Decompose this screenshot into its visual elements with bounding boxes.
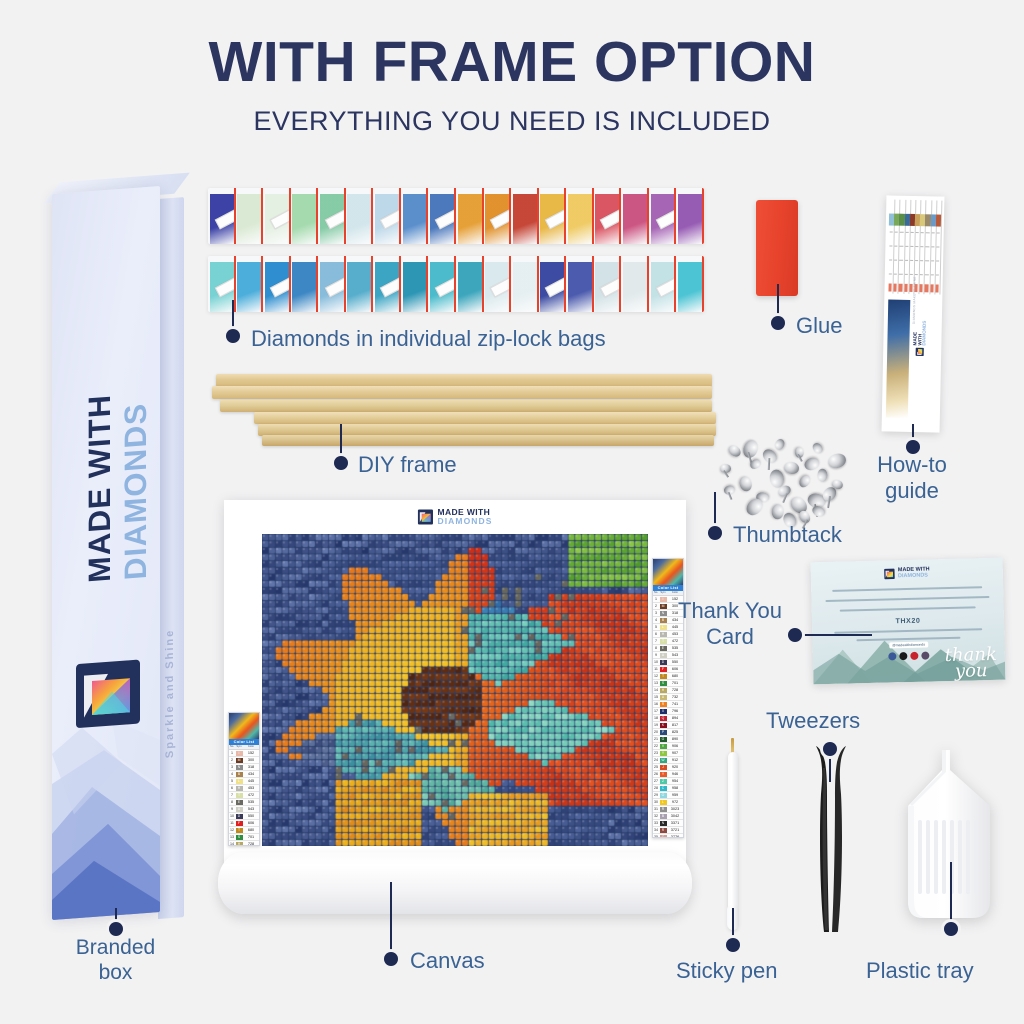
color-list-row: 4B434 — [229, 771, 259, 778]
diy-frame-leader — [340, 424, 342, 458]
color-list-row: 13S701 — [229, 834, 259, 841]
thank-you-card-label: Thank You Card — [672, 598, 788, 650]
page-subtitle: EVERYTHING YOU NEED IS INCLUDED — [0, 108, 1024, 135]
diamond-bag — [511, 188, 539, 244]
color-list-row: 20P825 — [653, 729, 683, 736]
canvas-group: MADE WITH DIAMONDS Color List No. Sym Co… — [224, 500, 688, 920]
guide-chart-line — [905, 232, 908, 233]
thumbtack-dot — [708, 526, 722, 540]
sticky-pen-label: Sticky pen — [676, 958, 778, 984]
diamond-bag — [318, 188, 346, 244]
card-text-line — [832, 586, 982, 592]
card-thank-you-script: thank you — [945, 647, 998, 679]
frame-slat — [212, 386, 712, 399]
guide-chart-line — [931, 232, 934, 233]
diamond-bag — [649, 188, 677, 244]
canvas-artwork-mosaic — [262, 534, 648, 846]
guide-chart-line — [936, 246, 939, 247]
diamond-bag — [456, 256, 484, 312]
guide-chart-line — [894, 260, 897, 261]
color-list-row: 5L445 — [229, 778, 259, 785]
thumbtack — [811, 441, 825, 455]
guide-chart-accent — [899, 284, 902, 292]
color-list-row: 1I152 — [229, 750, 259, 757]
guide-chart-line — [910, 246, 913, 247]
color-list-row: 32B3042 — [653, 813, 683, 820]
diamond-bag — [566, 256, 594, 312]
color-list-row: 8E535 — [229, 799, 259, 806]
color-list-row: 14H728 — [653, 687, 683, 694]
diamond-bag — [511, 256, 539, 312]
guide-chart-accent — [925, 284, 928, 292]
instagram-icon[interactable] — [899, 652, 907, 660]
diamond-bag — [346, 188, 374, 244]
card-social-icons — [888, 651, 929, 660]
diamond-bag — [484, 256, 512, 312]
diy-frame-group — [210, 372, 718, 448]
card-social-handle: @madewithdiamonds — [889, 642, 928, 649]
guide-chart-line — [910, 232, 913, 233]
guide-chart-line — [920, 274, 923, 275]
guide-chart-line — [925, 260, 928, 261]
guide-chart-line — [889, 273, 892, 274]
diy-frame-label: DIY frame — [358, 452, 457, 478]
diamond-bag — [401, 256, 429, 312]
canvas-dot — [384, 952, 398, 966]
guide-chart-line — [900, 246, 903, 247]
diamond-bag — [236, 188, 264, 244]
color-list-row: 9A543 — [653, 652, 683, 659]
box-tagline: Sparkle and Shine — [164, 628, 176, 758]
guide-chart-line — [921, 232, 924, 233]
sticky-pen-leader — [732, 908, 734, 942]
guide-chart-line — [910, 260, 913, 261]
diamond-bag — [594, 256, 622, 312]
color-list-row: 25J920 — [653, 764, 683, 771]
how-to-guide-label-line1: How-to — [845, 452, 979, 478]
color-list-row: 35C3776 — [653, 834, 683, 838]
canvas-artwork — [262, 534, 648, 846]
tiktok-icon[interactable] — [921, 651, 929, 659]
card-logo-line2: DIAMONDS — [898, 573, 930, 579]
guide-chart-line — [931, 246, 934, 247]
diamond-bag — [208, 188, 236, 244]
color-list-row: 24W912 — [653, 757, 683, 764]
guide-chart-line — [925, 274, 928, 275]
color-list-row: 3N318 — [229, 764, 259, 771]
guide-chart-accent — [888, 283, 891, 291]
glue-dot — [771, 316, 785, 330]
canvas-brand-logo: MADE WITH DIAMONDS — [417, 508, 492, 525]
diamonds-bags-label: Diamonds in individual zip-lock bags — [251, 326, 606, 352]
sticky-pen-dot — [726, 938, 740, 952]
canvas-logo-line2: DIAMONDS — [437, 517, 492, 526]
guide-chart-line — [915, 274, 918, 275]
diamond-bag — [263, 256, 291, 312]
guide-chart-line — [900, 260, 903, 261]
guide-chart-swatch — [936, 214, 941, 226]
card-brand-logo: MADE WITH DIAMONDS — [884, 567, 930, 579]
guide-chart-line — [915, 246, 918, 247]
diamonds-bags-dot — [226, 329, 240, 343]
diamond-bag-row-bottom — [208, 256, 704, 312]
facebook-icon[interactable] — [888, 652, 896, 660]
diamond-bag — [676, 188, 704, 244]
guide-brand-logo: MADE WITH DIAMONDS — [913, 320, 928, 356]
infographic-canvas: WITH FRAME OPTION EVERYTHING YOU NEED IS… — [0, 0, 1024, 1024]
color-list-row: 7T472 — [229, 792, 259, 799]
diamond-bag — [621, 256, 649, 312]
guide-chart-line — [904, 274, 907, 275]
branded-box-label-line2: box — [28, 961, 203, 986]
color-list-row: 34R3721 — [653, 827, 683, 834]
guide-chart-line — [921, 246, 924, 247]
diamond-bag — [456, 188, 484, 244]
diamond-bag — [318, 256, 346, 312]
branded-box-label-line1: Branded — [28, 936, 203, 961]
bag-zipper — [702, 188, 704, 244]
diamond-logo-icon — [884, 568, 895, 579]
thumbtack — [810, 504, 826, 519]
color-list-row: 19K817 — [653, 722, 683, 729]
frame-slat — [220, 400, 712, 412]
color-list-row: 28C958 — [653, 785, 683, 792]
thumbtack — [817, 468, 828, 481]
guide-chart-line — [926, 246, 929, 247]
diamond-bag — [539, 188, 567, 244]
thank-you-card: MADE WITH DIAMONDS THX20 @madewithdiamon… — [811, 558, 1006, 685]
diamond-bag — [621, 188, 649, 244]
color-list-row: 31R3023 — [653, 806, 683, 813]
card-text-line — [840, 606, 976, 611]
color-list-row: 29O959 — [653, 792, 683, 799]
guide-chart-accent — [904, 284, 907, 292]
color-list-row: 15U732 — [653, 694, 683, 701]
guide-chart-line — [936, 232, 939, 233]
color-list-row: 2M300 — [229, 757, 259, 764]
plastic-tray-leader — [950, 862, 952, 926]
color-list-row: 27Z954 — [653, 778, 683, 785]
thank-you-card-leader — [794, 634, 872, 636]
canvas-sheet: MADE WITH DIAMONDS Color List No. Sym Co… — [224, 500, 686, 868]
color-list-row: 13S701 — [653, 680, 683, 687]
plastic-tray-dot — [944, 922, 958, 936]
color-list-row: 11F606 — [653, 666, 683, 673]
diamond-bag — [263, 188, 291, 244]
plastic-tray-label: Plastic tray — [866, 958, 974, 984]
artwork-thumbnail — [229, 713, 259, 739]
box-front-face: MADE WITH DIAMONDS — [52, 186, 160, 920]
sticky-pen — [726, 738, 740, 930]
guide-chart-line — [915, 260, 918, 261]
diamond-bag — [539, 256, 567, 312]
guide-chart-line — [930, 274, 933, 275]
guide-cover-photo — [886, 299, 910, 417]
guide-chart-line — [889, 259, 892, 260]
color-list-row: 9A543 — [229, 806, 259, 813]
color-list-row: 30L972 — [653, 799, 683, 806]
guide-logo-line2: DIAMONDS — [923, 320, 928, 345]
guide-chart-column — [934, 200, 942, 294]
guide-chart-line — [889, 245, 892, 246]
diamond-logo-icon — [916, 347, 925, 356]
guide-chart-line — [894, 274, 897, 275]
guide-chart-line — [916, 232, 919, 233]
color-list-row: 17X796 — [653, 708, 683, 715]
color-list-row: 6H453 — [229, 785, 259, 792]
color-list-row: 14H728 — [229, 841, 259, 846]
canvas-leader — [390, 882, 392, 954]
diamond-bag — [401, 188, 429, 244]
diamond-bag — [484, 188, 512, 244]
diamond-bag — [566, 188, 594, 244]
diamond-logo-icon — [417, 509, 433, 525]
thank-you-card-dot — [788, 628, 802, 642]
diamond-bag — [594, 188, 622, 244]
color-list-row: 12T680 — [653, 673, 683, 680]
frame-slat — [254, 412, 716, 424]
bag-zipper — [702, 256, 704, 312]
pinterest-icon[interactable] — [910, 652, 918, 660]
tweezers-dot — [823, 742, 837, 756]
guide-chart-line — [936, 274, 939, 275]
guide-chart-line — [926, 232, 929, 233]
guide-chart-line — [890, 231, 893, 232]
box-facet-pattern — [52, 716, 160, 920]
thumbtack — [741, 438, 760, 459]
diamond-bags-group — [208, 188, 704, 312]
box-brand-line2: DIAMONDS — [118, 402, 154, 581]
color-list-rows: 1I1522M3003N3184B4345L4456H4537T4728E535… — [229, 750, 259, 846]
guide-chart-line — [900, 232, 903, 233]
diamond-bag — [676, 256, 704, 312]
box-brand-line1: MADE WITH — [82, 393, 118, 584]
diy-frame-dot — [334, 456, 348, 470]
thumbtack — [797, 473, 813, 490]
canvas-label: Canvas — [410, 948, 485, 974]
color-list-row: 10D550 — [229, 813, 259, 820]
color-list-row: 26Y946 — [653, 771, 683, 778]
glue-stick — [756, 200, 798, 296]
guide-chart-line — [920, 260, 923, 261]
how-to-guide-label-line2: guide — [845, 478, 979, 504]
diamond-bag — [428, 188, 456, 244]
glue-label: Glue — [796, 313, 842, 339]
card-text-line — [825, 596, 989, 602]
guide-chart-accent — [894, 284, 897, 292]
branded-box: Sparkle and Shine MADE WITH DIAMONDS — [44, 176, 204, 928]
how-to-guide-label: How-to guide — [845, 452, 979, 504]
box-side-face: Sparkle and Shine — [158, 197, 184, 919]
guide-chart-line — [910, 274, 913, 275]
diamond-bag-row-top — [208, 188, 704, 244]
thank-you-card-label-line1: Thank You — [672, 598, 788, 624]
card-promo-code: THX20 — [896, 618, 921, 626]
thank-you-card-label-line2: Card — [672, 624, 788, 650]
color-list-row: 11F606 — [229, 820, 259, 827]
color-list-row: 33N3371 — [653, 820, 683, 827]
thumbtack-label: Thumbtack — [733, 522, 842, 548]
color-list-row: 23Y907 — [653, 750, 683, 757]
color-list-row: 10D550 — [653, 659, 683, 666]
guide-chart-accent — [920, 284, 923, 292]
diamond-bag — [373, 188, 401, 244]
artwork-thumbnail — [653, 559, 683, 585]
tweezers — [808, 742, 848, 932]
thumbtack — [773, 437, 786, 451]
frame-slat — [262, 435, 714, 446]
guide-chart-line — [895, 232, 898, 233]
guide-chart-line — [895, 246, 898, 247]
color-list-row: 16R741 — [653, 701, 683, 708]
thumbtacks-group — [712, 434, 844, 536]
color-list-row: 12T680 — [229, 827, 259, 834]
guide-chart-accent — [935, 284, 938, 292]
guide-chart-line — [899, 274, 902, 275]
guide-chart-line — [905, 260, 908, 261]
color-list-row: 22V906 — [653, 743, 683, 750]
guide-chart-line — [905, 246, 908, 247]
canvas-rolled-edge — [218, 852, 692, 914]
thumbtack — [783, 461, 800, 475]
guide-chart-accent — [930, 284, 933, 292]
guide-chart-line — [931, 260, 934, 261]
branded-box-dot — [109, 922, 123, 936]
color-list-row: 21G890 — [653, 736, 683, 743]
page-title: WITH FRAME OPTION — [0, 34, 1024, 91]
diamond-bag — [236, 256, 264, 312]
branded-box-label: Branded box — [28, 936, 203, 986]
color-list-row: 18Q894 — [653, 715, 683, 722]
diamond-bag — [291, 188, 319, 244]
diamond-logo-icon — [74, 657, 142, 730]
how-to-guide: DIAMONDS MAKE IT SHINE MADE WITH DIAMOND… — [882, 195, 945, 432]
diamond-bag — [346, 256, 374, 312]
diamond-bag — [649, 256, 677, 312]
thumbtack-leader — [714, 492, 716, 530]
diamond-bag — [373, 256, 401, 312]
diamond-bag — [291, 256, 319, 312]
diamond-bag — [428, 256, 456, 312]
tweezers-label: Tweezers — [766, 708, 860, 734]
color-list-left: Color List No. Sym Color 1I1522M3003N318… — [228, 712, 260, 846]
guide-chart-line — [936, 260, 939, 261]
thumbtack — [726, 443, 743, 459]
thumbtack — [738, 475, 754, 493]
guide-caption: DIAMONDS MAKE IT SHINE — [912, 276, 917, 324]
